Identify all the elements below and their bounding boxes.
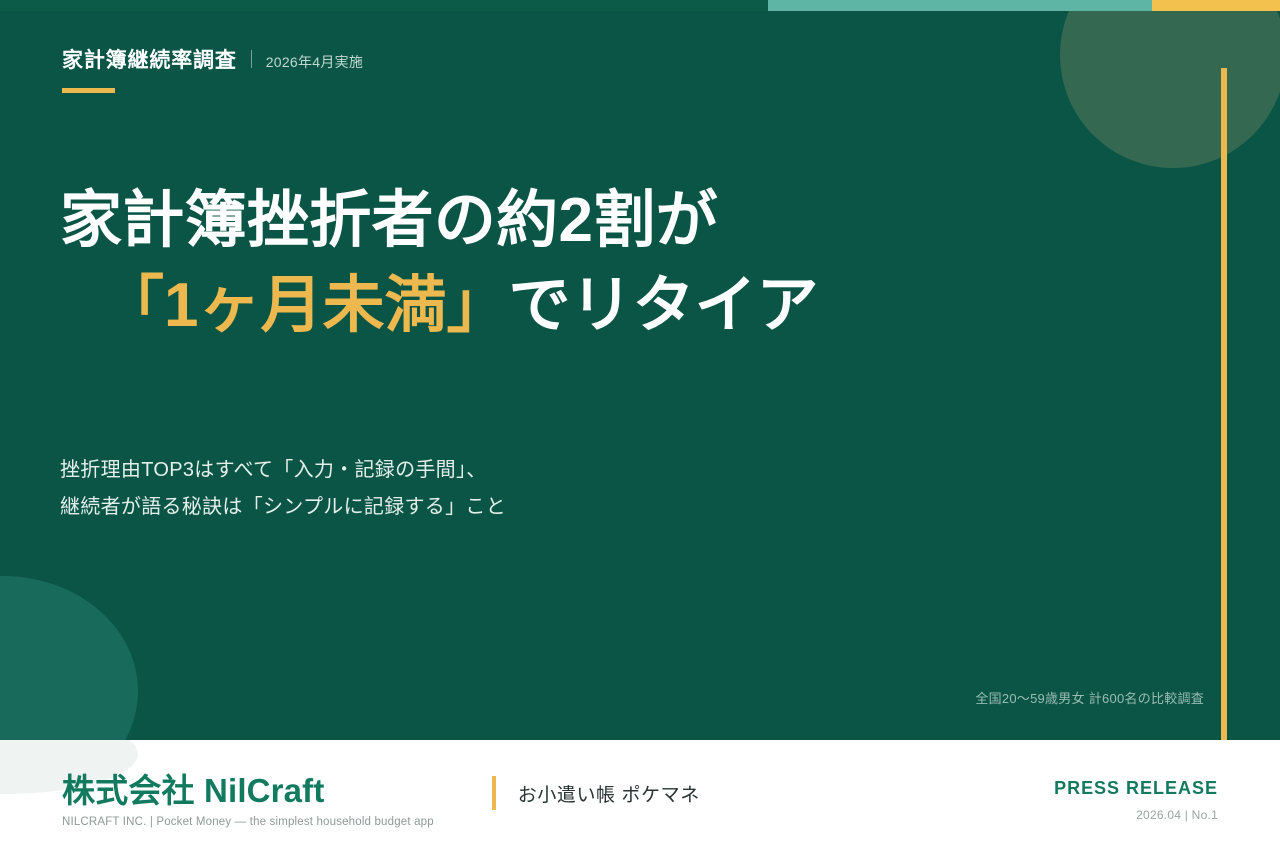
top-bar-segment-dark [0,0,768,11]
headline-line-1: 家計簿挫折者の約2割が [60,186,819,255]
headline-block: 家計簿挫折者の約2割が 「1ヶ月未満」でリタイア [60,186,819,341]
header-eyebrow: 家計簿継続率調査 2026年4月実施 [62,44,363,74]
headline-line-2-rest: でリタイア [508,271,818,340]
vertical-accent-line [1221,68,1227,740]
footer-bar: 株式会社 NilCraft NILCRAFT INC. | Pocket Mon… [0,740,1280,853]
survey-footnote: 全国20〜59歳男女 計600名の比較調査 [975,688,1204,707]
top-bar-segment-teal [768,0,1152,11]
headline-accent-phrase: 「1ヶ月未満」 [102,271,508,340]
footer-content: 株式会社 NilCraft NILCRAFT INC. | Pocket Mon… [0,740,1280,853]
eyebrow-divider [251,50,252,68]
subhead-line-2: 継続者が語る秘訣は「シンプルに記録する」こと [60,489,506,526]
subhead-block: 挫折理由TOP3はすべて「入力・記録の手間」、 継続者が語る秘訣は「シンプルに記… [60,452,506,526]
company-tagline: NILCRAFT INC. | Pocket Money — the simpl… [62,816,434,828]
decorative-circle-top-right [1060,0,1280,168]
product-accent-bar [492,776,496,810]
release-meta: PRESS RELEASE 2026.04 | No.1 [1054,778,1218,822]
top-bar-segment-gold [1152,0,1280,11]
release-issue-number: 2026.04 | No.1 [1054,808,1218,822]
survey-title: 家計簿継続率調査 [62,44,237,74]
headline-line-2: 「1ヶ月未満」でリタイア [102,271,819,340]
company-brand: 株式会社 NilCraft NILCRAFT INC. | Pocket Mon… [62,772,434,828]
press-release-label: PRESS RELEASE [1054,778,1218,799]
company-name: 株式会社 NilCraft [62,772,434,810]
decorative-circle-bottom-left [0,576,138,740]
survey-date: 2026年4月実施 [266,52,363,72]
subhead-line-1: 挫折理由TOP3はすべて「入力・記録の手間」、 [60,452,506,489]
top-accent-bar [0,0,1280,11]
product-block: お小遣い帳 ポケマネ [492,776,700,810]
product-name: お小遣い帳 ポケマネ [518,780,700,807]
hero-panel [0,0,1280,740]
press-release-slide: 家計簿継続率調査 2026年4月実施 家計簿挫折者の約2割が 「1ヶ月未満」でリ… [0,0,1280,853]
eyebrow-underline [62,88,115,93]
